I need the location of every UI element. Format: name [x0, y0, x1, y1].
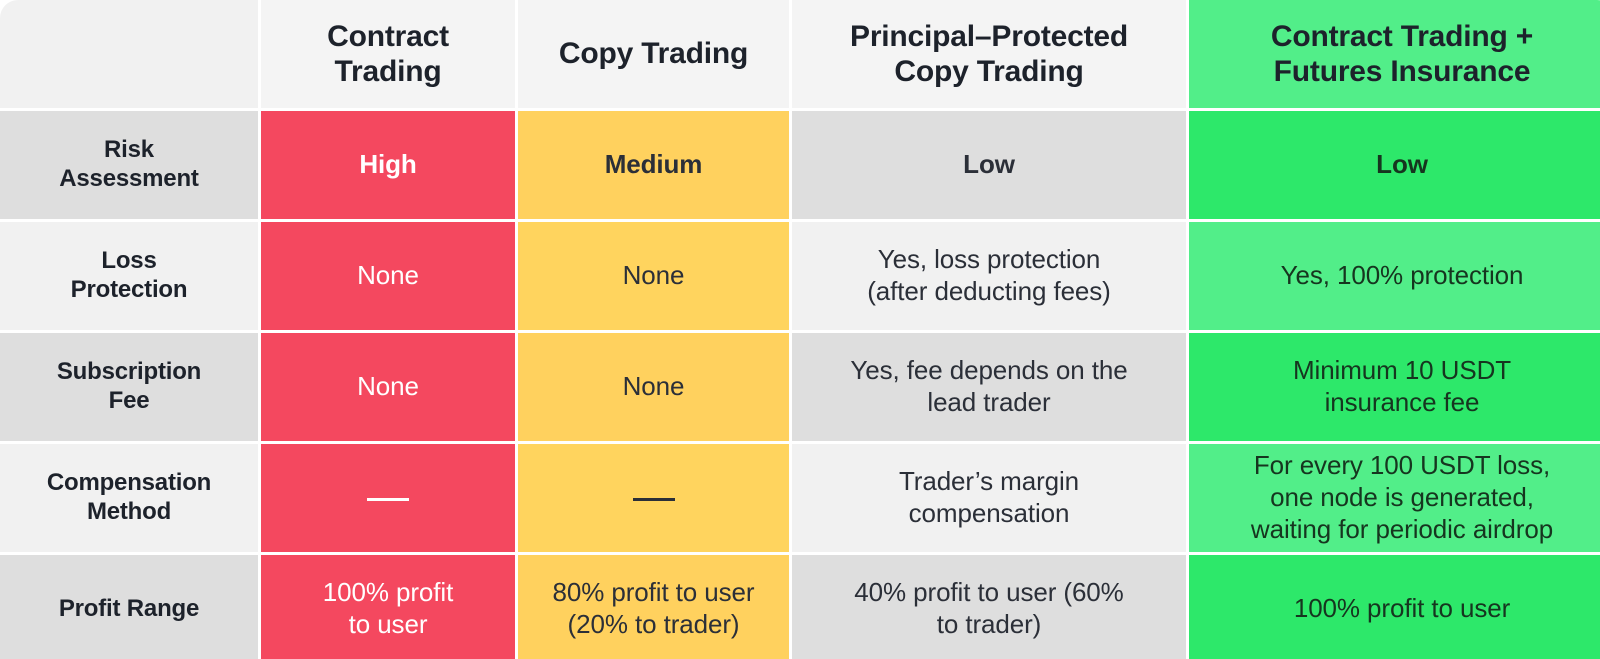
cell-line1: Yes, loss protection: [878, 244, 1101, 274]
cell-line2: to trader): [937, 609, 1042, 639]
cell-line2: (20% to trader): [568, 609, 740, 639]
cell-profit-range-contract-trading: 100% profit to user: [261, 555, 515, 659]
table-row: Subscription Fee None None Yes, fee depe…: [0, 333, 1600, 441]
cell-loss-protection-principal-protected: Yes, loss protection (after deducting fe…: [792, 222, 1186, 330]
row-label-line1: Loss: [101, 247, 156, 274]
row-label-profit-range: Profit Range: [0, 555, 258, 659]
header-contract-trading-futures-insurance: Contract Trading + Futures Insurance: [1189, 0, 1600, 108]
header-principal-protected-line2: Copy Trading: [894, 55, 1083, 88]
cell-compensation-method-contract-trading: [261, 444, 515, 552]
row-label-line2: Fee: [109, 387, 150, 414]
cell-line2: lead trader: [927, 387, 1050, 417]
cell-line1: 80% profit to user: [553, 577, 755, 607]
table-body: Risk Assessment High Medium Low Low Loss…: [0, 111, 1600, 659]
cell-compensation-method-futures-insurance: For every 100 USDT loss, one node is gen…: [1189, 444, 1600, 552]
header-principal-protected-line1: Principal–Protected: [850, 20, 1128, 53]
cell-loss-protection-copy-trading: None: [518, 222, 789, 330]
cell-line2: (after deducting fees): [867, 276, 1111, 306]
header-contract-trading-line1: Contract: [327, 20, 449, 53]
header-copy-trading-line1: Copy Trading: [559, 37, 748, 70]
header-row: Contract Trading Copy Trading Principal–…: [0, 0, 1600, 108]
cell-subscription-fee-contract-trading: None: [261, 333, 515, 441]
table-row: Risk Assessment High Medium Low Low: [0, 111, 1600, 219]
row-label-loss-protection: Loss Protection: [0, 222, 258, 330]
row-label-risk-assessment: Risk Assessment: [0, 111, 258, 219]
table-row: Profit Range 100% profit to user 80% pro…: [0, 555, 1600, 659]
header-futures-insurance-line1: Contract Trading +: [1271, 20, 1533, 53]
cell-subscription-fee-copy-trading: None: [518, 333, 789, 441]
header-corner-blank: [0, 0, 258, 108]
cell-risk-assessment-futures-insurance: Low: [1189, 111, 1600, 219]
row-label-line2: Assessment: [59, 165, 198, 192]
header-futures-insurance-line2: Futures Insurance: [1274, 55, 1531, 88]
cell-compensation-method-principal-protected: Trader’s margin compensation: [792, 444, 1186, 552]
table-header: Contract Trading Copy Trading Principal–…: [0, 0, 1600, 108]
cell-profit-range-copy-trading: 80% profit to user (20% to trader): [518, 555, 789, 659]
cell-subscription-fee-futures-insurance: Minimum 10 USDT insurance fee: [1189, 333, 1600, 441]
row-label-line1: Compensation: [47, 469, 211, 496]
cell-risk-assessment-principal-protected: Low: [792, 111, 1186, 219]
table-row: Loss Protection None None Yes, loss prot…: [0, 222, 1600, 330]
header-contract-trading-line2: Trading: [335, 55, 442, 88]
cell-line1: Minimum 10 USDT: [1293, 355, 1511, 385]
row-label-compensation-method: Compensation Method: [0, 444, 258, 552]
cell-line1: Yes, fee depends on the: [850, 355, 1127, 385]
cell-profit-range-futures-insurance: 100% profit to user: [1189, 555, 1600, 659]
header-principal-protected-copy-trading: Principal–Protected Copy Trading: [792, 0, 1186, 108]
em-dash-icon: [367, 498, 409, 501]
cell-compensation-method-copy-trading: [518, 444, 789, 552]
cell-risk-assessment-contract-trading: High: [261, 111, 515, 219]
cell-line1: Trader’s margin: [899, 466, 1079, 496]
row-label-subscription-fee: Subscription Fee: [0, 333, 258, 441]
product-comparison-table: Contract Trading Copy Trading Principal–…: [0, 0, 1600, 659]
cell-subscription-fee-principal-protected: Yes, fee depends on the lead trader: [792, 333, 1186, 441]
cell-line3: waiting for periodic airdrop: [1251, 514, 1553, 544]
em-dash-icon: [633, 498, 675, 501]
cell-loss-protection-contract-trading: None: [261, 222, 515, 330]
row-label-line2: Protection: [71, 276, 188, 303]
row-label-line1: Risk: [104, 136, 154, 163]
cell-profit-range-principal-protected: 40% profit to user (60% to trader): [792, 555, 1186, 659]
header-copy-trading: Copy Trading: [518, 0, 789, 108]
cell-line2: one node is generated,: [1270, 482, 1534, 512]
cell-line2: insurance fee: [1325, 387, 1480, 417]
cell-line1: For every 100 USDT loss,: [1254, 450, 1550, 480]
row-label-line1: Subscription: [57, 358, 201, 385]
header-contract-trading: Contract Trading: [261, 0, 515, 108]
cell-line2: compensation: [909, 498, 1070, 528]
cell-line1: 40% profit to user (60%: [854, 577, 1123, 607]
cell-line1: 100% profit: [323, 577, 453, 607]
row-label-line1: Profit Range: [59, 595, 199, 622]
comparison-table-container: Contract Trading Copy Trading Principal–…: [0, 0, 1600, 659]
table-row: Compensation Method Trader’s margin comp…: [0, 444, 1600, 552]
row-label-line2: Method: [87, 498, 171, 525]
cell-line2: to user: [349, 609, 428, 639]
cell-loss-protection-futures-insurance: Yes, 100% protection: [1189, 222, 1600, 330]
cell-risk-assessment-copy-trading: Medium: [518, 111, 789, 219]
